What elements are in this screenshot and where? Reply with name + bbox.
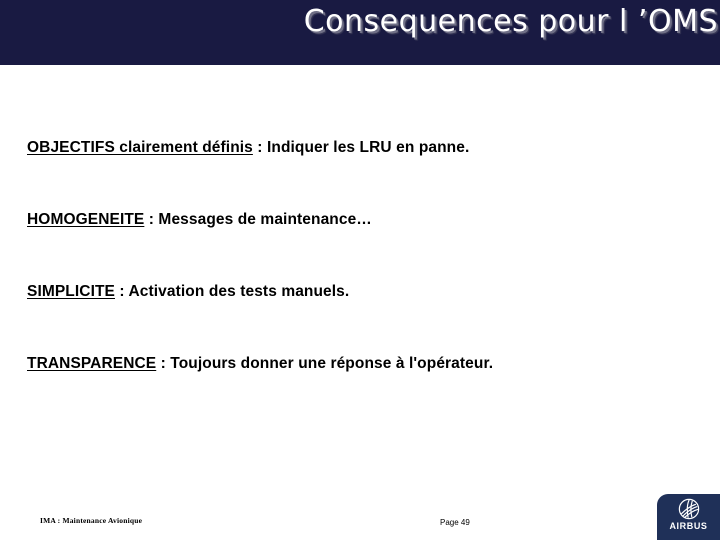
bullet-text: : Toujours donner une réponse à l'opérat… <box>156 355 493 372</box>
bullet-line: TRANSPARENCE : Toujours donner une répon… <box>27 355 493 373</box>
page-number: Page 49 <box>440 518 470 527</box>
airbus-wordmark: AIRBUS <box>657 521 720 531</box>
bullet-text: : Activation des tests manuels. <box>115 283 349 300</box>
bullet-keyword: HOMOGENEITE <box>27 211 144 228</box>
bullet-line: OBJECTIFS clairement définis : Indiquer … <box>27 139 469 157</box>
bullet-text: : Indiquer les LRU en panne. <box>253 139 469 156</box>
slide-title: Consequences pour l ’OMS <box>304 2 718 42</box>
footer-course-label: IMA : Maintenance Avionique <box>40 516 142 525</box>
bullet-text: : Messages de maintenance… <box>144 211 372 228</box>
bullet-keyword: OBJECTIFS clairement définis <box>27 139 253 156</box>
bullet-line: HOMOGENEITE : Messages de maintenance… <box>27 211 372 229</box>
slide-header-band: Consequences pour l ’OMS <box>0 0 720 65</box>
airbus-logo: AIRBUS <box>657 494 720 540</box>
bullet-keyword: SIMPLICITE <box>27 283 115 300</box>
slide-body: OBJECTIFS clairement définis : Indiquer … <box>0 65 720 485</box>
airbus-swirl-emblem <box>678 498 700 520</box>
bullet-line: SIMPLICITE : Activation des tests manuel… <box>27 283 349 301</box>
bullet-keyword: TRANSPARENCE <box>27 355 156 372</box>
